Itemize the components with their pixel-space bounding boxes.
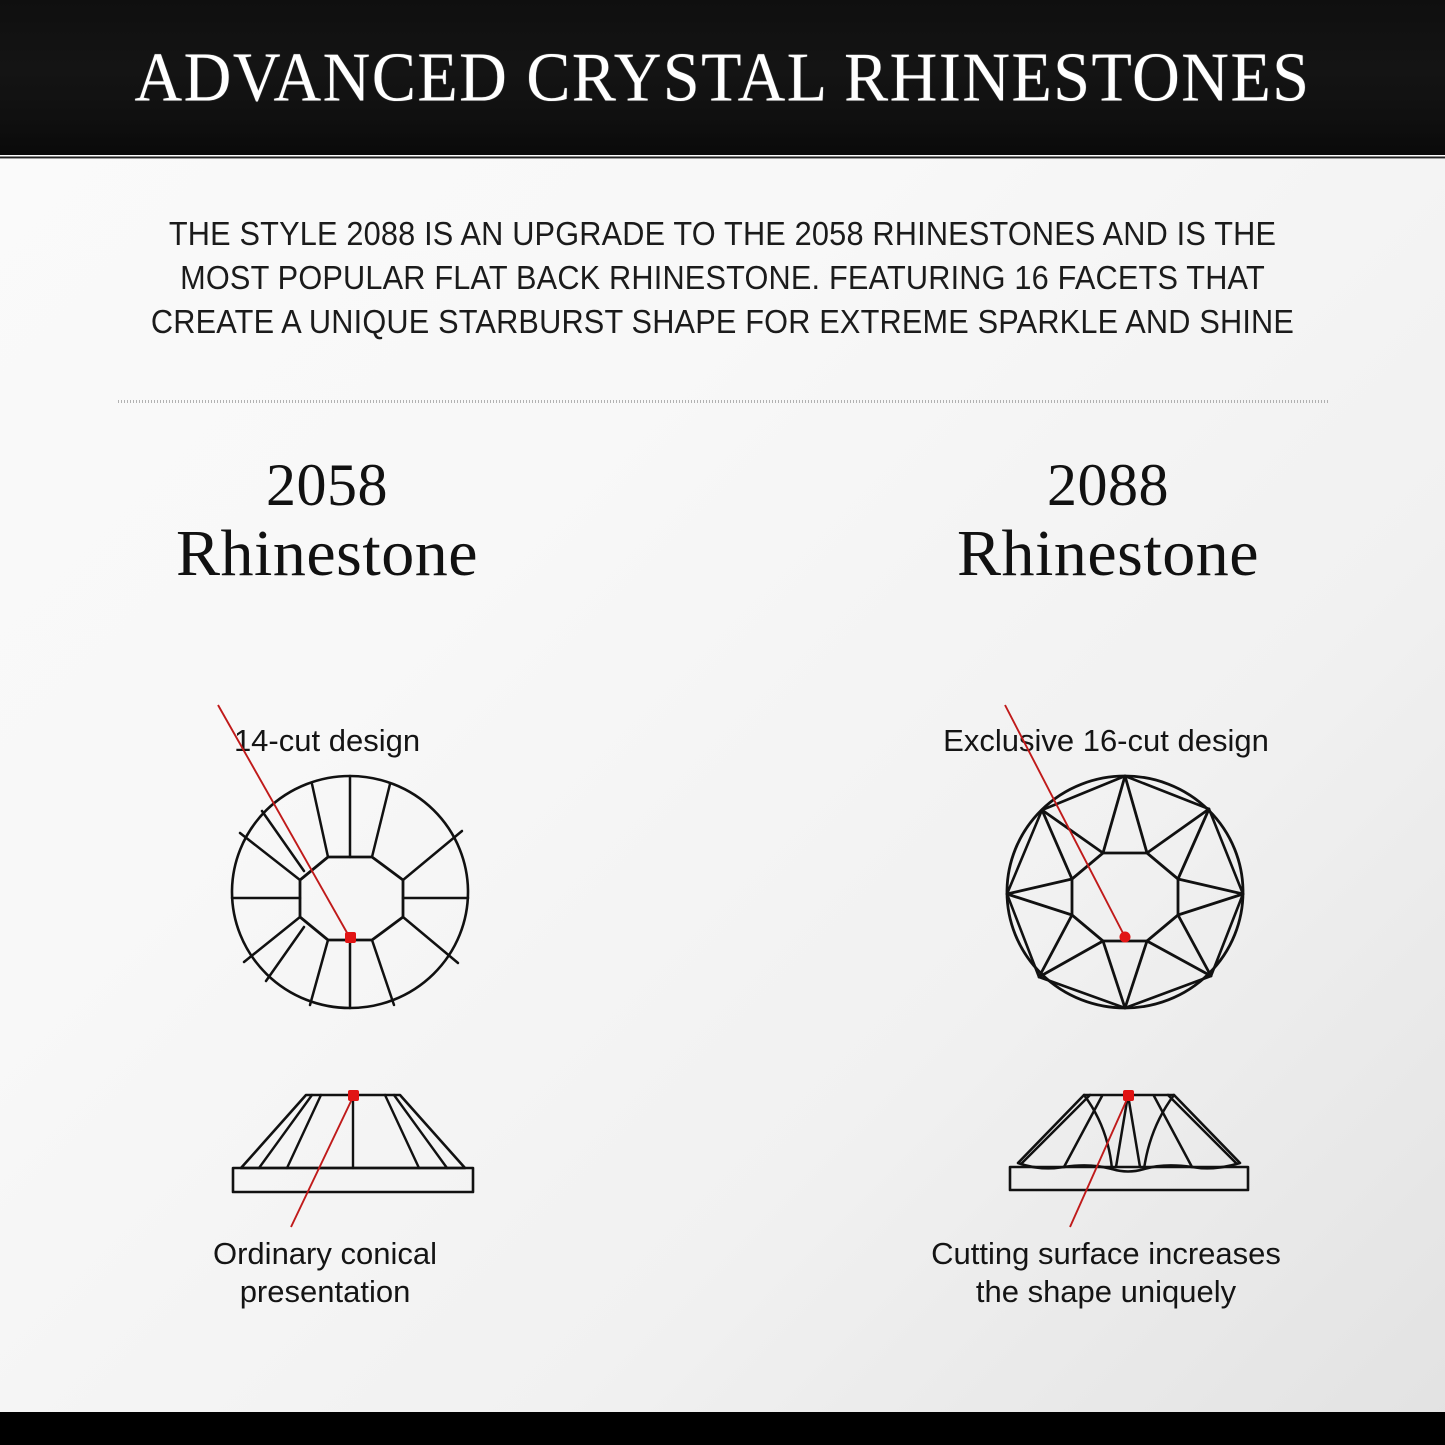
caption-2088-line-1: Cutting surface increases [796, 1235, 1416, 1273]
intro-line-2: MOST POPULAR FLAT BACK RHINESTONE. FEATU… [139, 256, 1306, 300]
conical-side-view-svg [203, 1075, 503, 1215]
diagram-top-view-2058 [200, 767, 500, 1017]
page-title: ADVANCED CRYSTAL RHINESTONES [135, 43, 1311, 113]
conical-top-view-svg [200, 767, 500, 1017]
column-2058: 2058 Rhinestone 14-cut design [35, 455, 655, 1355]
heading-number-2088: 2088 [798, 455, 1418, 516]
diagram-side-view-2058 [203, 1075, 503, 1215]
caption-2058-line-2: presentation [15, 1273, 635, 1311]
intro-line-3: CREATE A UNIQUE STARBURST SHAPE FOR EXTR… [139, 300, 1306, 344]
leader-dot-2088 [1120, 932, 1131, 943]
base-slab [233, 1168, 473, 1192]
caption-2088-line-2: the shape uniquely [796, 1273, 1416, 1311]
intro-line-1: THE STYLE 2088 IS AN UPGRADE TO THE 2058… [139, 212, 1306, 256]
column-2088: 2088 Rhinestone Exclusive 16-cut design [790, 455, 1410, 1355]
diagram-side-view-2088 [978, 1075, 1278, 1215]
leader-dot-2058-side [348, 1090, 359, 1101]
starburst-top-view-svg [975, 767, 1275, 1017]
infographic-page: ADVANCED CRYSTAL RHINESTONES THE STYLE 2… [0, 0, 1445, 1445]
header-banner: ADVANCED CRYSTAL RHINESTONES [0, 0, 1445, 155]
leader-dot-2088-side [1123, 1090, 1134, 1101]
heading-word-2088: Rhinestone [798, 520, 1418, 587]
caption-2058: Ordinary conical presentation [15, 1235, 635, 1311]
diagram-top-view-2088 [975, 767, 1275, 1017]
cut-label-2058: 14-cut design [17, 723, 637, 759]
caption-2058-line-1: Ordinary conical [15, 1235, 635, 1273]
column-heading-2058: 2058 Rhinestone [17, 455, 637, 588]
cut-label-2088: Exclusive 16-cut design [796, 723, 1416, 759]
heading-number-2058: 2058 [17, 455, 637, 516]
caption-2088: Cutting surface increases the shape uniq… [796, 1235, 1416, 1311]
footer-bar [0, 1412, 1445, 1445]
heading-word-2058: Rhinestone [17, 520, 637, 587]
starburst-side-view-svg [978, 1075, 1278, 1215]
dotted-divider [118, 400, 1330, 403]
center-table-octagon [300, 857, 403, 940]
intro-paragraph: THE STYLE 2088 IS AN UPGRADE TO THE 2058… [95, 212, 1350, 344]
leader-dot-2058 [345, 932, 356, 943]
star-facet-lines [1022, 1095, 1236, 1169]
header-underline-divider [0, 155, 1445, 159]
side-facet-lines [259, 1095, 447, 1168]
column-heading-2088: 2088 Rhinestone [798, 455, 1418, 588]
